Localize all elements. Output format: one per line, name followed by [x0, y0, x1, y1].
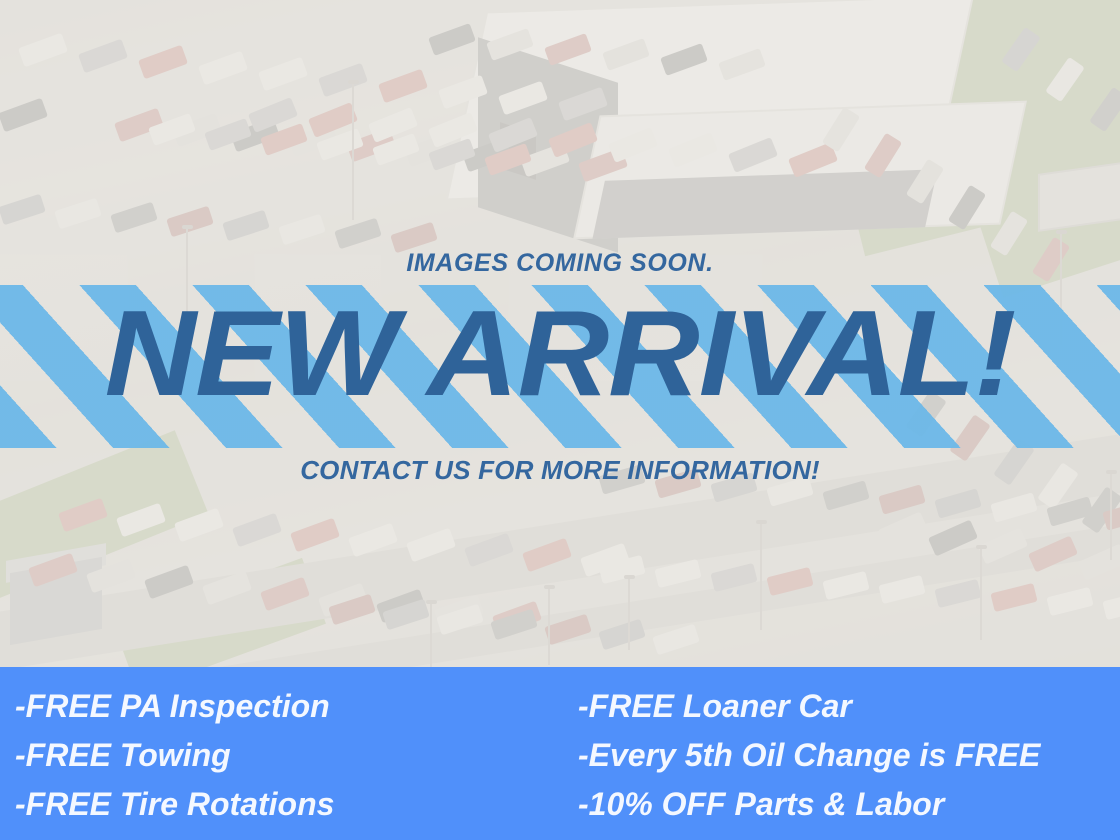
- new-arrival-headline: NEW ARRIVAL!: [0, 292, 1120, 414]
- vehicle-listing-placeholder-image: IMAGES COMING SOON. NEW ARRIVAL! CONTACT…: [0, 0, 1120, 840]
- offer-item: -FREE Loaner Car: [578, 682, 1120, 731]
- offer-item: -FREE Tire Rotations: [15, 780, 570, 829]
- light-pole-head: [976, 545, 987, 549]
- light-pole-head: [756, 520, 767, 524]
- light-pole: [980, 545, 982, 640]
- offer-item: -FREE Towing: [15, 731, 570, 780]
- offer-item: -FREE PA Inspection: [15, 682, 570, 731]
- light-pole-head: [624, 575, 635, 579]
- light-pole: [628, 575, 630, 650]
- offer-item: -10% OFF Parts & Labor: [578, 780, 1120, 829]
- light-pole: [760, 520, 762, 630]
- light-pole: [548, 585, 550, 665]
- light-pole-head: [544, 585, 555, 589]
- offers-column-left: -FREE PA Inspection -FREE Towing -FREE T…: [0, 667, 570, 840]
- offer-item: -Every 5th Oil Change is FREE: [578, 731, 1120, 780]
- light-pole: [352, 80, 354, 220]
- dealership-building-wall-front: [592, 169, 937, 238]
- light-pole-head: [182, 225, 193, 229]
- images-coming-soon-text: IMAGES COMING SOON.: [0, 249, 1120, 278]
- contact-us-text: CONTACT US FOR MORE INFORMATION!: [0, 455, 1120, 486]
- service-offers-banner: -FREE PA Inspection -FREE Towing -FREE T…: [0, 667, 1120, 840]
- light-pole-head: [426, 600, 437, 604]
- offers-column-right: -FREE Loaner Car -Every 5th Oil Change i…: [570, 667, 1120, 840]
- storage-trailer: [1040, 164, 1120, 229]
- light-pole: [430, 600, 432, 670]
- light-pole-head: [348, 80, 359, 84]
- light-pole-head: [1056, 230, 1067, 234]
